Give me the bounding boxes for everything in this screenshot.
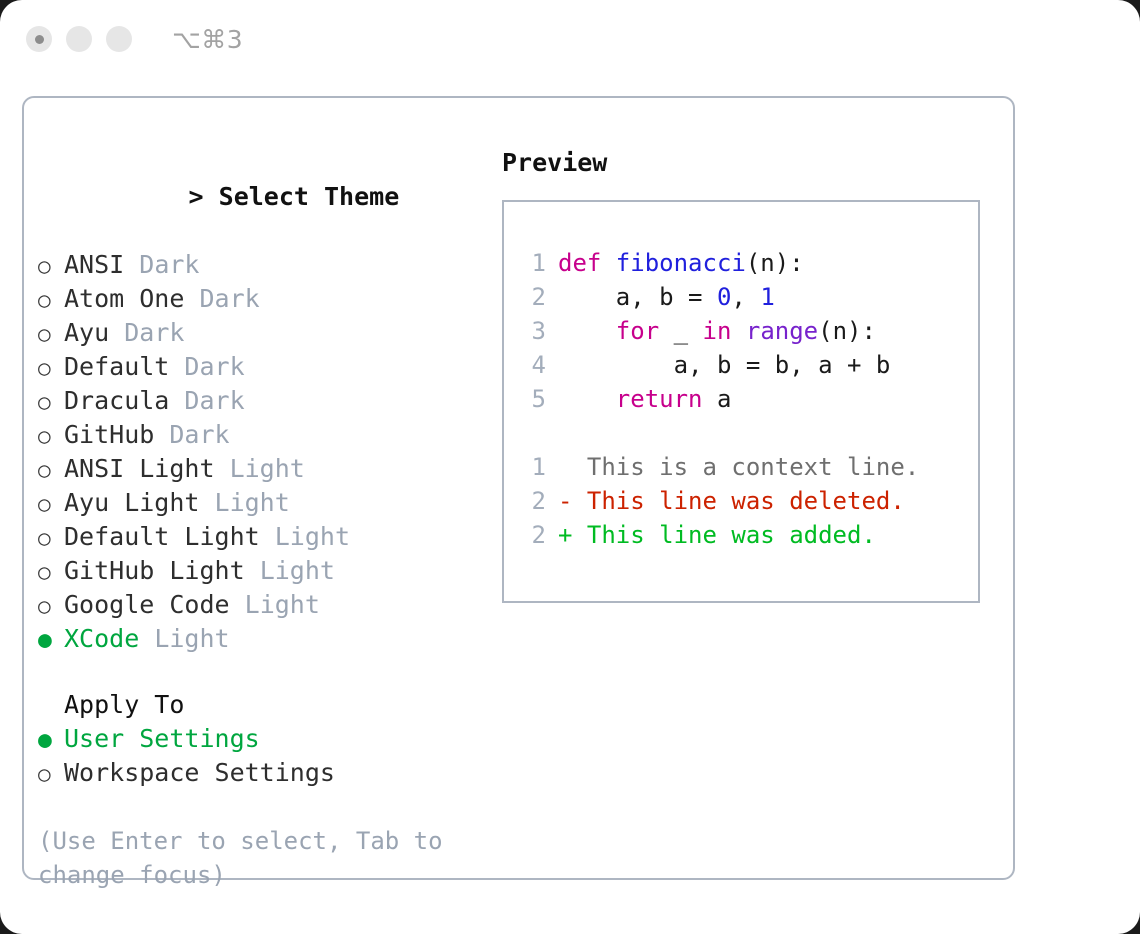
- window-dot-third[interactable]: [106, 26, 132, 52]
- theme-option-label: Dracula: [64, 384, 169, 418]
- theme-variant-tag: Light: [245, 588, 320, 622]
- diff-line-ctx: 1 This is a context line.: [504, 450, 978, 484]
- token-kw: for: [616, 317, 659, 345]
- code-text: a, b = b, a + b: [558, 348, 890, 382]
- theme-variant-tag: Dark: [124, 316, 184, 350]
- label-gap: [169, 350, 184, 384]
- keyboard-hint-text: (Use Enter to select, Tab to change focu…: [38, 824, 448, 892]
- radio-selected-icon: ●: [38, 623, 64, 657]
- line-number: 5: [518, 382, 546, 416]
- theme-variant-tag: Dark: [184, 384, 244, 418]
- theme-variant-tag: Dark: [199, 282, 259, 316]
- token-kw: def: [558, 249, 616, 277]
- theme-variant-tag: Dark: [184, 350, 244, 384]
- radio-unselected-icon: ○: [38, 317, 64, 351]
- token-pl: (n):: [818, 317, 876, 345]
- radio-unselected-icon: ○: [38, 249, 64, 283]
- window-titlebar: ⌥⌘3: [0, 0, 1140, 78]
- theme-selection-panel: > Select Theme ○ANSI Dark○Atom One Dark○…: [38, 146, 478, 892]
- diff-marker: -: [558, 484, 587, 518]
- radio-unselected-icon: ○: [38, 385, 64, 419]
- apply-to-heading: Apply To: [38, 688, 478, 722]
- theme-option-ayu[interactable]: ○Ayu Dark: [38, 316, 478, 350]
- label-gap: [169, 384, 184, 418]
- preview-heading: Preview: [502, 146, 1002, 180]
- token-pl: a, b = b, a + b: [558, 351, 890, 379]
- token-num: 0: [717, 283, 731, 311]
- diff-text: This is a context line.: [587, 450, 919, 484]
- diff-text: This line was deleted.: [587, 484, 905, 518]
- token-pl: [558, 317, 616, 345]
- theme-picker-dialog: > Select Theme ○ANSI Dark○Atom One Dark○…: [22, 96, 1015, 880]
- theme-variant-tag: Light: [230, 452, 305, 486]
- label-gap: [109, 316, 124, 350]
- code-line: 5 return a: [504, 382, 978, 416]
- keyboard-shortcut-label: ⌥⌘3: [172, 25, 243, 54]
- radio-unselected-icon: ○: [38, 555, 64, 589]
- label-gap: [215, 452, 230, 486]
- radio-unselected-icon: ○: [38, 757, 64, 791]
- code-diff-gap: [504, 416, 978, 450]
- theme-option-xcode[interactable]: ●XCode Light: [38, 622, 478, 656]
- line-number: 1: [518, 246, 546, 280]
- select-theme-heading: > Select Theme: [38, 146, 478, 248]
- window-dot-second[interactable]: [66, 26, 92, 52]
- hint-spacer: [38, 790, 478, 824]
- code-text: return a: [558, 382, 731, 416]
- label-gap: [124, 248, 139, 282]
- diff-line-del: 2- This line was deleted.: [504, 484, 978, 518]
- theme-variant-tag: Light: [154, 622, 229, 656]
- radio-unselected-icon: ○: [38, 419, 64, 453]
- token-kw: in: [703, 317, 732, 345]
- line-number: 3: [518, 314, 546, 348]
- apply-to-option-label: User Settings: [64, 722, 260, 756]
- token-pl: a: [703, 385, 732, 413]
- active-dot-indicator: [35, 35, 44, 44]
- code-line: 1def fibonacci(n):: [504, 246, 978, 280]
- radio-unselected-icon: ○: [38, 521, 64, 555]
- prompt-caret-icon: >: [189, 182, 204, 211]
- theme-variant-tag: Light: [275, 520, 350, 554]
- token-kw: return: [616, 385, 703, 413]
- diff-sample: 1 This is a context line.2- This line wa…: [504, 450, 978, 552]
- token-bi: range: [746, 317, 818, 345]
- theme-option-label: Ayu Light: [64, 486, 199, 520]
- label-gap: [199, 486, 214, 520]
- label-gap: [139, 622, 154, 656]
- theme-option-label: GitHub Light: [64, 554, 245, 588]
- code-text: a, b = 0, 1: [558, 280, 775, 314]
- theme-option-label: GitHub: [64, 418, 154, 452]
- diff-text: This line was added.: [587, 518, 876, 552]
- line-number: 2: [518, 484, 546, 518]
- code-sample: 1def fibonacci(n):2 a, b = 0, 13 for _ i…: [504, 246, 978, 416]
- theme-option-label: ANSI Light: [64, 452, 215, 486]
- code-line: 2 a, b = 0, 1: [504, 280, 978, 314]
- token-pl: (n):: [746, 249, 804, 277]
- line-number: 2: [518, 518, 546, 552]
- theme-variant-tag: Dark: [139, 248, 199, 282]
- code-text: for _ in range(n):: [558, 314, 876, 348]
- radio-unselected-icon: ○: [38, 589, 64, 623]
- diff-line-add: 2+ This line was added.: [504, 518, 978, 552]
- apply-to-option-label: Workspace Settings: [64, 756, 335, 790]
- theme-option-label: Atom One: [64, 282, 184, 316]
- radio-unselected-icon: ○: [38, 487, 64, 521]
- theme-option-github[interactable]: ○GitHub Dark: [38, 418, 478, 452]
- line-number: 1: [518, 450, 546, 484]
- theme-list: ○ANSI Dark○Atom One Dark○Ayu Dark○Defaul…: [38, 248, 478, 656]
- theme-option-ansi[interactable]: ○ANSI Dark: [38, 248, 478, 282]
- label-gap: [230, 588, 245, 622]
- radio-selected-icon: ●: [38, 723, 64, 757]
- theme-variant-tag: Dark: [169, 418, 229, 452]
- diff-marker: [558, 450, 587, 484]
- theme-option-label: Google Code: [64, 588, 230, 622]
- theme-variant-tag: Light: [260, 554, 335, 588]
- diff-marker: +: [558, 518, 587, 552]
- theme-option-atom-one[interactable]: ○Atom One Dark: [38, 282, 478, 316]
- theme-option-google-code[interactable]: ○Google Code Light: [38, 588, 478, 622]
- code-line: 3 for _ in range(n):: [504, 314, 978, 348]
- line-number: 2: [518, 280, 546, 314]
- code-line: 4 a, b = b, a + b: [504, 348, 978, 382]
- line-number: 4: [518, 348, 546, 382]
- theme-variant-tag: Light: [215, 486, 290, 520]
- label-gap: [260, 520, 275, 554]
- theme-option-label: XCode: [64, 622, 139, 656]
- radio-unselected-icon: ○: [38, 351, 64, 385]
- theme-option-label: Default Light: [64, 520, 260, 554]
- token-pl: ,: [731, 283, 760, 311]
- code-text: def fibonacci(n):: [558, 246, 804, 280]
- window-dot-active[interactable]: [26, 26, 52, 52]
- token-pl: [558, 385, 616, 413]
- theme-option-dracula[interactable]: ○Dracula Dark: [38, 384, 478, 418]
- radio-unselected-icon: ○: [38, 453, 64, 487]
- token-pl: a, b =: [558, 283, 717, 311]
- select-theme-heading-label: Select Theme: [219, 182, 400, 211]
- preview-panel: Preview 1def fibonacci(n):2 a, b = 0, 13…: [502, 146, 1002, 603]
- token-num: 1: [760, 283, 774, 311]
- theme-option-ayu-light[interactable]: ○Ayu Light Light: [38, 486, 478, 520]
- label-gap: [154, 418, 169, 452]
- label-gap: [245, 554, 260, 588]
- radio-unselected-icon: ○: [38, 283, 64, 317]
- theme-option-default-light[interactable]: ○Default Light Light: [38, 520, 478, 554]
- label-gap: [184, 282, 199, 316]
- theme-option-label: Default: [64, 350, 169, 384]
- theme-option-ansi-light[interactable]: ○ANSI Light Light: [38, 452, 478, 486]
- apply-to-list: ●User Settings○Workspace Settings: [38, 722, 478, 790]
- apply-to-option-workspace-settings[interactable]: ○Workspace Settings: [38, 756, 478, 790]
- theme-option-label: Ayu: [64, 316, 109, 350]
- token-pl: [731, 317, 745, 345]
- apply-to-option-user-settings[interactable]: ●User Settings: [38, 722, 478, 756]
- token-fn: fibonacci: [616, 249, 746, 277]
- theme-option-github-light[interactable]: ○GitHub Light Light: [38, 554, 478, 588]
- list-spacer: [38, 656, 478, 688]
- app-window: ⌥⌘3 > Select Theme ○ANSI Dark○Atom One D…: [0, 0, 1140, 934]
- token-pl: _: [659, 317, 702, 345]
- preview-box: 1def fibonacci(n):2 a, b = 0, 13 for _ i…: [502, 200, 980, 603]
- theme-option-label: ANSI: [64, 248, 124, 282]
- theme-option-default[interactable]: ○Default Dark: [38, 350, 478, 384]
